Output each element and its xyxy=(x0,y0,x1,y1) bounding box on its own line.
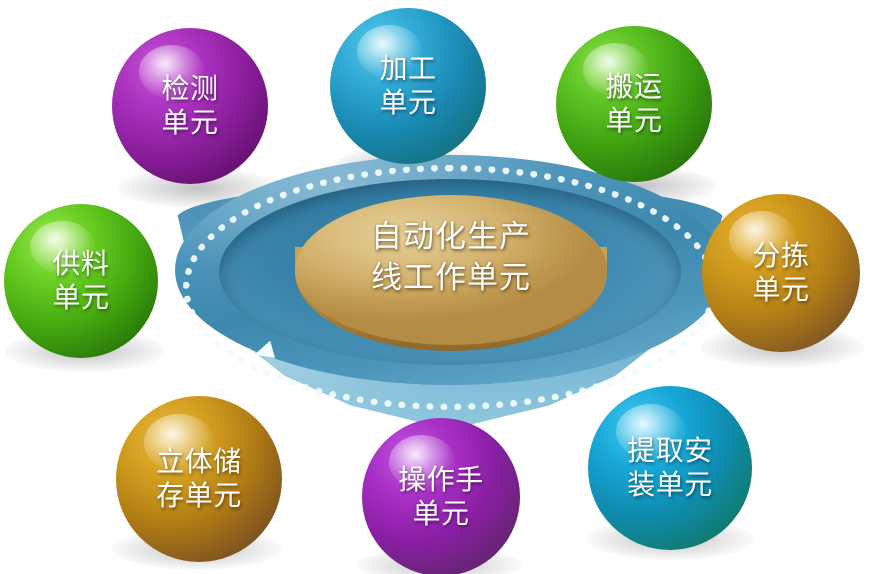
unit-label-line2: 单元 xyxy=(605,104,662,138)
unit-label-line1: 加工 xyxy=(379,52,436,86)
unit-label-handling: 搬运 单元 xyxy=(599,70,668,137)
unit-label-line2: 单元 xyxy=(161,106,218,140)
unit-label-processing: 加工 单元 xyxy=(373,52,442,119)
unit-label-line1: 立体储 xyxy=(156,445,242,479)
sphere-highlight xyxy=(616,404,685,460)
unit-sphere-feeding[interactable]: 供料 单元 xyxy=(4,204,158,358)
sphere-highlight xyxy=(30,221,95,273)
unit-sphere-sorting[interactable]: 分拣 单元 xyxy=(702,194,860,352)
sphere-highlight xyxy=(139,45,205,98)
gold-cylinder-top xyxy=(295,195,607,345)
sphere-highlight xyxy=(729,211,795,265)
unit-label-detection: 检测 单元 xyxy=(155,72,224,139)
unit-label-line1: 分拣 xyxy=(752,239,809,273)
unit-label-line1: 提取安 xyxy=(627,434,713,468)
unit-label-line1: 供料 xyxy=(52,247,109,281)
unit-label-line1: 搬运 xyxy=(605,70,662,104)
unit-label-line2: 单元 xyxy=(379,86,436,120)
sphere-highlight xyxy=(144,414,214,470)
unit-label-line1: 检测 xyxy=(161,72,218,106)
sphere-highlight xyxy=(357,25,423,78)
unit-label-line2: 单元 xyxy=(752,273,809,307)
diagram-canvas: 自动化生产 线工作单元 检测 单元 加工 单元 搬运 单元 供料 单元 xyxy=(0,0,896,574)
sphere-highlight xyxy=(389,435,455,489)
unit-sphere-processing[interactable]: 加工 单元 xyxy=(330,8,486,164)
unit-label-line1: 操作手 xyxy=(398,463,484,497)
unit-label-pick-and-place: 提取安 装单元 xyxy=(621,434,719,501)
sphere-highlight xyxy=(583,43,649,96)
unit-label-line2: 存单元 xyxy=(156,479,242,513)
unit-sphere-handling[interactable]: 搬运 单元 xyxy=(556,26,712,182)
unit-sphere-detection[interactable]: 检测 单元 xyxy=(112,28,268,184)
unit-label-line2: 单元 xyxy=(52,281,109,315)
unit-label-stereo-storage: 立体储 存单元 xyxy=(150,445,248,512)
unit-label-line2: 单元 xyxy=(398,497,484,531)
unit-label-sorting: 分拣 单元 xyxy=(746,239,815,306)
unit-label-manipulator: 操作手 单元 xyxy=(392,463,490,530)
unit-label-feeding: 供料 单元 xyxy=(46,247,115,314)
unit-sphere-stereo-storage[interactable]: 立体储 存单元 xyxy=(116,396,282,562)
unit-label-line2: 装单元 xyxy=(627,468,713,502)
unit-sphere-manipulator[interactable]: 操作手 单元 xyxy=(362,418,520,574)
unit-sphere-pick-and-place[interactable]: 提取安 装单元 xyxy=(588,386,752,550)
